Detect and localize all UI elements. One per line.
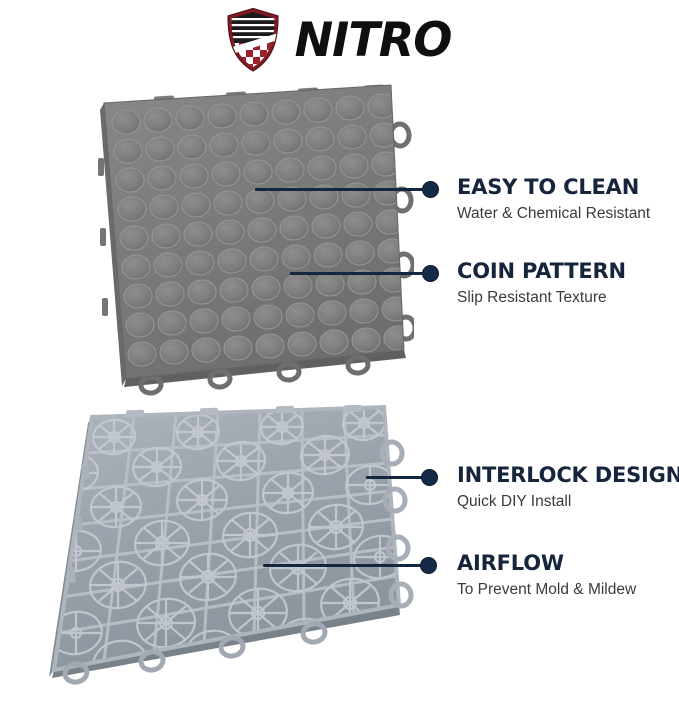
interlocking-grid-tile-image (14, 405, 414, 715)
racing-shield-icon (225, 7, 281, 73)
feature-title: AIRFLOW (457, 552, 636, 574)
callout-line-airflow (263, 564, 429, 567)
feature-title: EASY TO CLEAN (457, 176, 650, 198)
feature-subtitle: Slip Resistant Texture (457, 289, 626, 308)
callout-dot-easy-to-clean (422, 181, 439, 198)
feature-interlock-design: INTERLOCK DESIGN Quick DIY Install (457, 464, 679, 512)
feature-coin-pattern: COIN PATTERN Slip Resistant Texture (457, 260, 626, 308)
feature-subtitle: Water & Chemical Resistant (457, 205, 650, 224)
coin-tile-graphic (14, 78, 414, 398)
callout-dot-coin-pattern (422, 265, 439, 282)
feature-easy-to-clean: EASY TO CLEAN Water & Chemical Resistant (457, 176, 650, 224)
brand-wordmark: NITRO (295, 17, 452, 64)
callout-dot-interlock-design (421, 469, 438, 486)
feature-title: INTERLOCK DESIGN (457, 464, 679, 486)
coin-pattern-tile-image (14, 78, 414, 398)
feature-subtitle: To Prevent Mold & Mildew (457, 581, 636, 600)
infographic-page: NITRO (0, 0, 679, 727)
feature-airflow: AIRFLOW To Prevent Mold & Mildew (457, 552, 636, 600)
callout-line-coin-pattern (290, 272, 429, 275)
callout-line-easy-to-clean (255, 188, 429, 191)
grid-tile-graphic (14, 405, 414, 715)
feature-title: COIN PATTERN (457, 260, 626, 282)
brand-header: NITRO (0, 0, 679, 80)
callout-dot-airflow (420, 557, 437, 574)
feature-subtitle: Quick DIY Install (457, 493, 679, 512)
callout-line-interlock-design (366, 476, 429, 479)
